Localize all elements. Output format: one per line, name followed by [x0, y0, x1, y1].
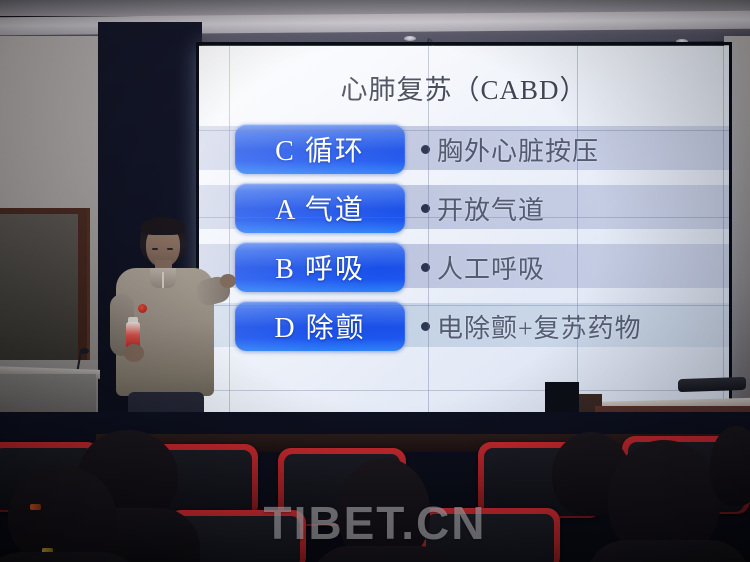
audience-hair: [710, 426, 750, 506]
step-pill-label: D 除颤: [274, 306, 365, 346]
presenter-badge: [138, 304, 147, 313]
panel-seam-vertical: [229, 46, 230, 426]
presenter-hand-left: [124, 344, 144, 362]
presenter-hand-right: [220, 274, 236, 288]
bullet-label: 胸外心脏按压: [437, 131, 599, 168]
presenter-zipper: [162, 272, 164, 288]
panel-seam-horizontal: [199, 390, 729, 391]
slide-rows: C 循环 胸外心脏按压 A 气道 开放气道: [199, 124, 729, 360]
presenter-eye: [152, 248, 158, 250]
step-pill-label: C 循环: [275, 129, 365, 169]
panel-seam-horizontal: [199, 130, 729, 131]
step-pill-a: A 气道: [235, 183, 405, 233]
audience-head: [710, 426, 750, 506]
downlight-icon: [676, 39, 688, 44]
bullet-item: 开放气道: [421, 183, 545, 233]
step-pill-label: B 呼吸: [275, 247, 365, 287]
panel-seam-vertical: [723, 46, 724, 426]
bullet-item: 电除颤+复苏药物: [421, 301, 642, 351]
panel-seam-vertical: [428, 46, 429, 426]
slide-row: B 呼吸 人工呼吸: [199, 242, 729, 294]
step-pill-b: B 呼吸: [235, 242, 405, 292]
slide: 心肺复苏（CABD） C 循环 胸外心脏按压 A 气道: [199, 46, 729, 426]
panel-seam-horizontal: [199, 217, 729, 218]
hair-clip: [30, 504, 41, 510]
audience-area: [0, 412, 750, 562]
audience-hair: [8, 466, 116, 562]
slide-title: 心肺复苏（CABD）: [199, 68, 729, 107]
laptop: [678, 377, 746, 392]
step-pill-c: C 循环: [235, 124, 405, 174]
audience-head: [8, 466, 116, 562]
downlight-icon: [404, 36, 416, 41]
presenter-hair-front: [141, 218, 185, 235]
slide-row: D 除颤 电除颤+复苏药物: [199, 301, 729, 353]
bullet-label: 人工呼吸: [437, 249, 545, 286]
panel-seam-horizontal: [199, 305, 729, 306]
bullet-label: 开放气道: [437, 190, 545, 227]
slide-row: A 气道 开放气道: [199, 183, 729, 235]
panel-seam-vertical: [577, 46, 578, 426]
bullet-item: 人工呼吸: [421, 242, 545, 292]
wall-wood-panel: [0, 208, 90, 368]
audience-shoulders: [586, 540, 750, 562]
presenter-eye: [167, 248, 173, 250]
microphone-icon: [80, 348, 89, 354]
step-pill-label: A 气道: [275, 188, 365, 228]
step-pill-d: D 除颤: [235, 301, 405, 351]
lecture-hall-photo: 心肺复苏（CABD） C 循环 胸外心脏按压 A 气道: [0, 0, 750, 562]
slide-row: C 循环 胸外心脏按压: [199, 124, 729, 176]
bullet-label: 电除颤+复苏药物: [437, 308, 642, 345]
bullet-item: 胸外心脏按压: [421, 124, 599, 174]
wall-wood-panel-inner: [0, 214, 78, 362]
video-wall-display: 心肺复苏（CABD） C 循环 胸外心脏按压 A 气道: [199, 46, 729, 426]
